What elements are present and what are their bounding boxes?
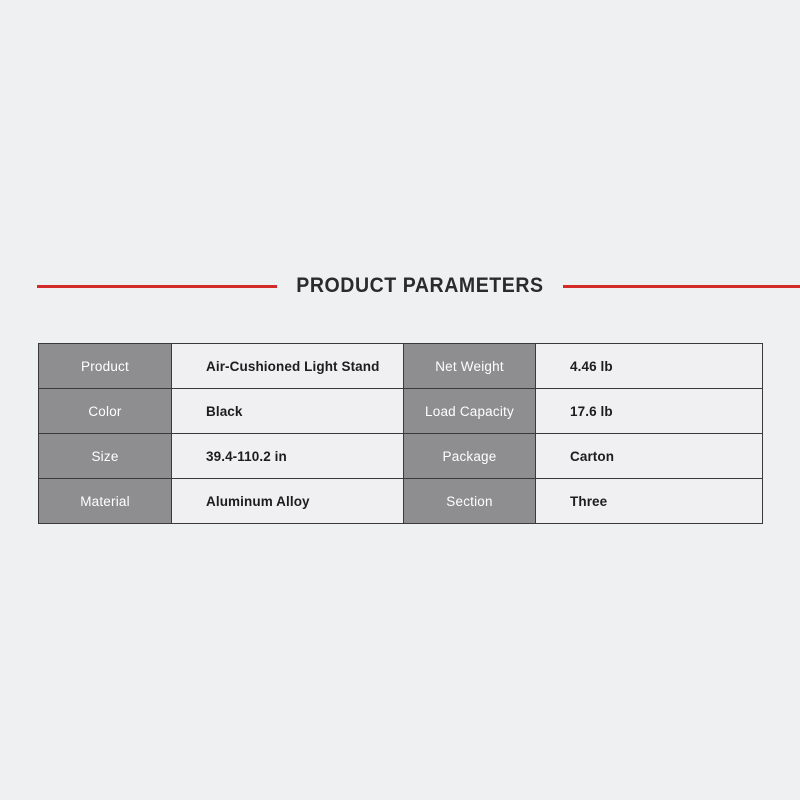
product-parameters-page: PRODUCT PARAMETERS Product Air-Cushioned… — [0, 0, 800, 800]
table-row: Size 39.4-110.2 in Package Carton — [39, 434, 763, 479]
spec-label-product: Product — [39, 344, 172, 389]
spec-value-package: Carton — [536, 434, 763, 479]
spec-value-size: 39.4-110.2 in — [172, 434, 404, 479]
spec-label-net-weight: Net Weight — [404, 344, 536, 389]
specification-table-body: Product Air-Cushioned Light Stand Net We… — [39, 344, 763, 524]
spec-value-section: Three — [536, 479, 763, 524]
decorative-rule-right — [563, 285, 800, 288]
spec-label-package: Package — [404, 434, 536, 479]
section-header: PRODUCT PARAMETERS — [37, 268, 762, 304]
spec-label-size: Size — [39, 434, 172, 479]
page-title: PRODUCT PARAMETERS — [287, 274, 553, 298]
spec-value-product: Air-Cushioned Light Stand — [172, 344, 404, 389]
specification-table: Product Air-Cushioned Light Stand Net We… — [38, 343, 763, 524]
spec-value-material: Aluminum Alloy — [172, 479, 404, 524]
table-row: Color Black Load Capacity 17.6 lb — [39, 389, 763, 434]
spec-value-load-capacity: 17.6 lb — [536, 389, 763, 434]
spec-label-section: Section — [404, 479, 536, 524]
spec-label-material: Material — [39, 479, 172, 524]
spec-value-net-weight: 4.46 lb — [536, 344, 763, 389]
table-row: Material Aluminum Alloy Section Three — [39, 479, 763, 524]
spec-value-color: Black — [172, 389, 404, 434]
spec-label-color: Color — [39, 389, 172, 434]
table-row: Product Air-Cushioned Light Stand Net We… — [39, 344, 763, 389]
spec-label-load-capacity: Load Capacity — [404, 389, 536, 434]
decorative-rule-left — [37, 285, 277, 288]
